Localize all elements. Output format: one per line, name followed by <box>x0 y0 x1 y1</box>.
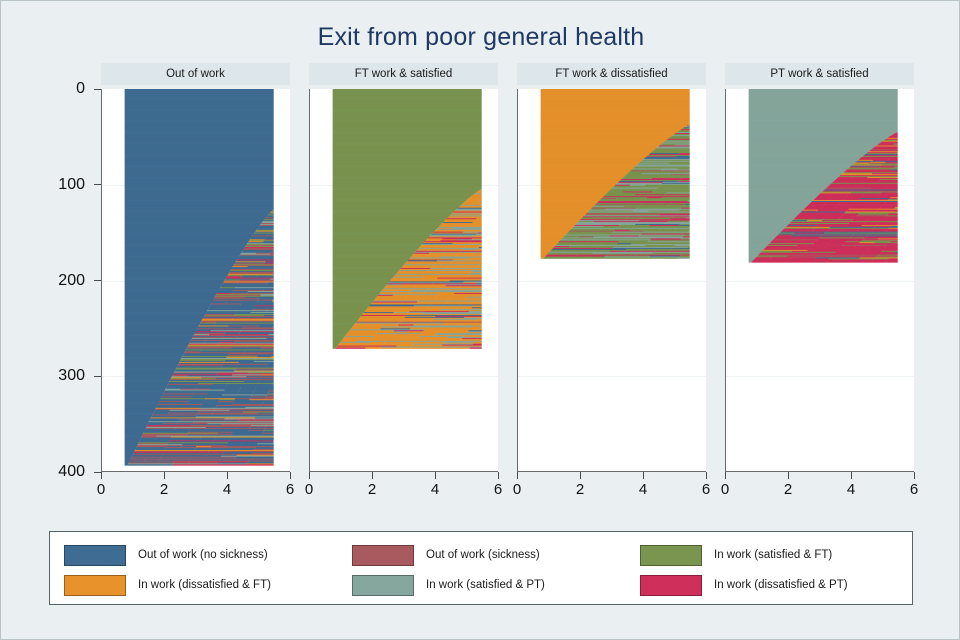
x-axis-tick-label: 6 <box>286 481 294 498</box>
panel-plot-area-3 <box>517 89 706 472</box>
x-axis-tick-label: 2 <box>784 481 792 498</box>
x-axis-tick-label: 4 <box>223 481 231 498</box>
legend-item[interactable]: In work (satisfied & PT) <box>352 573 545 597</box>
panel-plot-area-1 <box>101 89 290 472</box>
chart-root: Exit from poor general health Out of wor… <box>0 0 960 640</box>
sequence-index-plot-1 <box>102 89 290 472</box>
y-axis-tick-label: 300 <box>58 367 85 385</box>
page-title: Exit from poor general health <box>1 23 960 52</box>
x-axis-tick-label: 4 <box>639 481 647 498</box>
x-axis-tick-mark <box>290 472 291 479</box>
x-axis-tick-mark <box>227 472 228 479</box>
x-axis-tick-mark <box>725 472 726 479</box>
x-axis-tick-label: 4 <box>431 481 439 498</box>
panel-title: FT work & satisfied <box>355 68 453 80</box>
y-axis-tick-mark <box>94 376 101 377</box>
legend-swatch <box>640 575 702 596</box>
panel-4: PT work & satisfied <box>725 63 914 473</box>
y-axis-tick-label: 100 <box>58 176 85 194</box>
x-axis-tick-mark <box>517 472 518 479</box>
legend-label: In work (dissatisfied & FT) <box>138 579 271 591</box>
x-axis-tick-label: 6 <box>494 481 502 498</box>
panel-header-3: FT work & dissatisfied <box>517 63 706 85</box>
legend: Out of work (no sickness)Out of work (si… <box>49 531 913 605</box>
x-axis-tick-label: 6 <box>910 481 918 498</box>
x-axis-tick-mark <box>309 472 310 479</box>
legend-label: Out of work (no sickness) <box>138 549 268 561</box>
panel-header-4: PT work & satisfied <box>725 63 914 85</box>
sequence-index-plot-3 <box>518 89 706 472</box>
x-axis-tick-mark <box>788 472 789 479</box>
y-axis-tick-label: 400 <box>58 463 85 481</box>
x-axis-tick-mark <box>914 472 915 479</box>
legend-swatch <box>640 545 702 566</box>
panel-2: FT work & satisfied <box>309 63 498 473</box>
y-axis-tick-label: 0 <box>76 80 85 98</box>
x-axis-tick-label: 0 <box>721 481 729 498</box>
panel-plot-area-2 <box>309 89 498 472</box>
y-axis-tick-mark <box>94 89 101 90</box>
plot-matrix: Out of workFT work & satisfiedFT work & … <box>101 63 913 473</box>
panel-header-1: Out of work <box>101 63 290 85</box>
legend-label: In work (satisfied & PT) <box>426 579 545 591</box>
x-axis-tick-mark <box>643 472 644 479</box>
y-axis-tick-mark <box>94 184 101 185</box>
legend-item[interactable]: Out of work (no sickness) <box>64 543 268 567</box>
x-axis-tick-label: 6 <box>702 481 710 498</box>
legend-swatch <box>352 575 414 596</box>
panel-header-2: FT work & satisfied <box>309 63 498 85</box>
x-axis-tick-label: 0 <box>513 481 521 498</box>
x-axis-tick-label: 0 <box>305 481 313 498</box>
x-axis-tick-mark <box>498 472 499 479</box>
x-axis-tick-mark <box>435 472 436 479</box>
y-axis-tick-label: 200 <box>58 272 85 290</box>
x-axis-tick-mark <box>164 472 165 479</box>
legend-label: In work (satisfied & FT) <box>714 549 832 561</box>
legend-label: In work (dissatisfied & PT) <box>714 579 848 591</box>
x-axis-tick-label: 2 <box>576 481 584 498</box>
panel-title: FT work & dissatisfied <box>555 68 667 80</box>
legend-swatch <box>352 545 414 566</box>
x-axis-tick-label: 2 <box>368 481 376 498</box>
legend-swatch <box>64 545 126 566</box>
legend-item[interactable]: Out of work (sickness) <box>352 543 540 567</box>
x-axis-tick-mark <box>706 472 707 479</box>
legend-item[interactable]: In work (dissatisfied & FT) <box>64 573 271 597</box>
x-axis-tick-mark <box>580 472 581 479</box>
y-axis-tick-mark <box>94 280 101 281</box>
panel-3: FT work & dissatisfied <box>517 63 706 473</box>
legend-swatch <box>64 575 126 596</box>
panel-title: PT work & satisfied <box>770 68 868 80</box>
legend-item[interactable]: In work (dissatisfied & PT) <box>640 573 848 597</box>
panel-1: Out of work <box>101 63 290 473</box>
x-axis-tick-mark <box>101 472 102 479</box>
x-axis-tick-label: 4 <box>847 481 855 498</box>
panel-title: Out of work <box>166 68 225 80</box>
sequence-index-plot-4 <box>726 89 914 472</box>
x-axis-tick-label: 2 <box>160 481 168 498</box>
sequence-index-plot-2 <box>310 89 498 472</box>
x-axis-tick-mark <box>851 472 852 479</box>
panel-plot-area-4 <box>725 89 914 472</box>
legend-item[interactable]: In work (satisfied & FT) <box>640 543 832 567</box>
legend-label: Out of work (sickness) <box>426 549 540 561</box>
x-axis-tick-label: 0 <box>97 481 105 498</box>
x-axis-tick-mark <box>372 472 373 479</box>
